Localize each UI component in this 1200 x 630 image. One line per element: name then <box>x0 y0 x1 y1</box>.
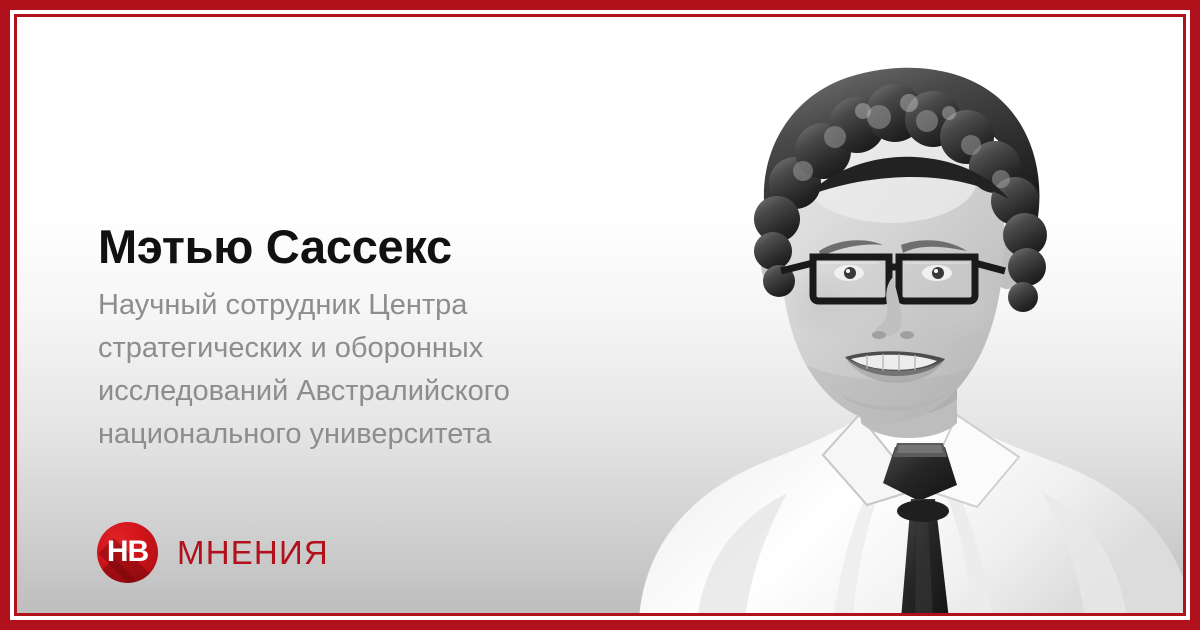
card-stage: Мэтью Сассекс Научный сотрудник Центра с… <box>17 17 1183 613</box>
author-name: Мэтью Сассекс <box>98 222 658 272</box>
author-opinion-card: Мэтью Сассекс Научный сотрудник Центра с… <box>0 0 1200 630</box>
logo-letters: НВ <box>97 522 158 583</box>
brand-row[interactable]: НВ МНЕНИЯ <box>97 522 329 583</box>
section-label[interactable]: МНЕНИЯ <box>177 536 329 569</box>
author-portrait-photo <box>627 19 1183 613</box>
nv-circle-logo-icon[interactable]: НВ <box>97 522 158 583</box>
author-description: Научный сотрудник Центра стратегических … <box>98 284 643 456</box>
author-text-block: Мэтью Сассекс Научный сотрудник Центра с… <box>98 222 658 456</box>
